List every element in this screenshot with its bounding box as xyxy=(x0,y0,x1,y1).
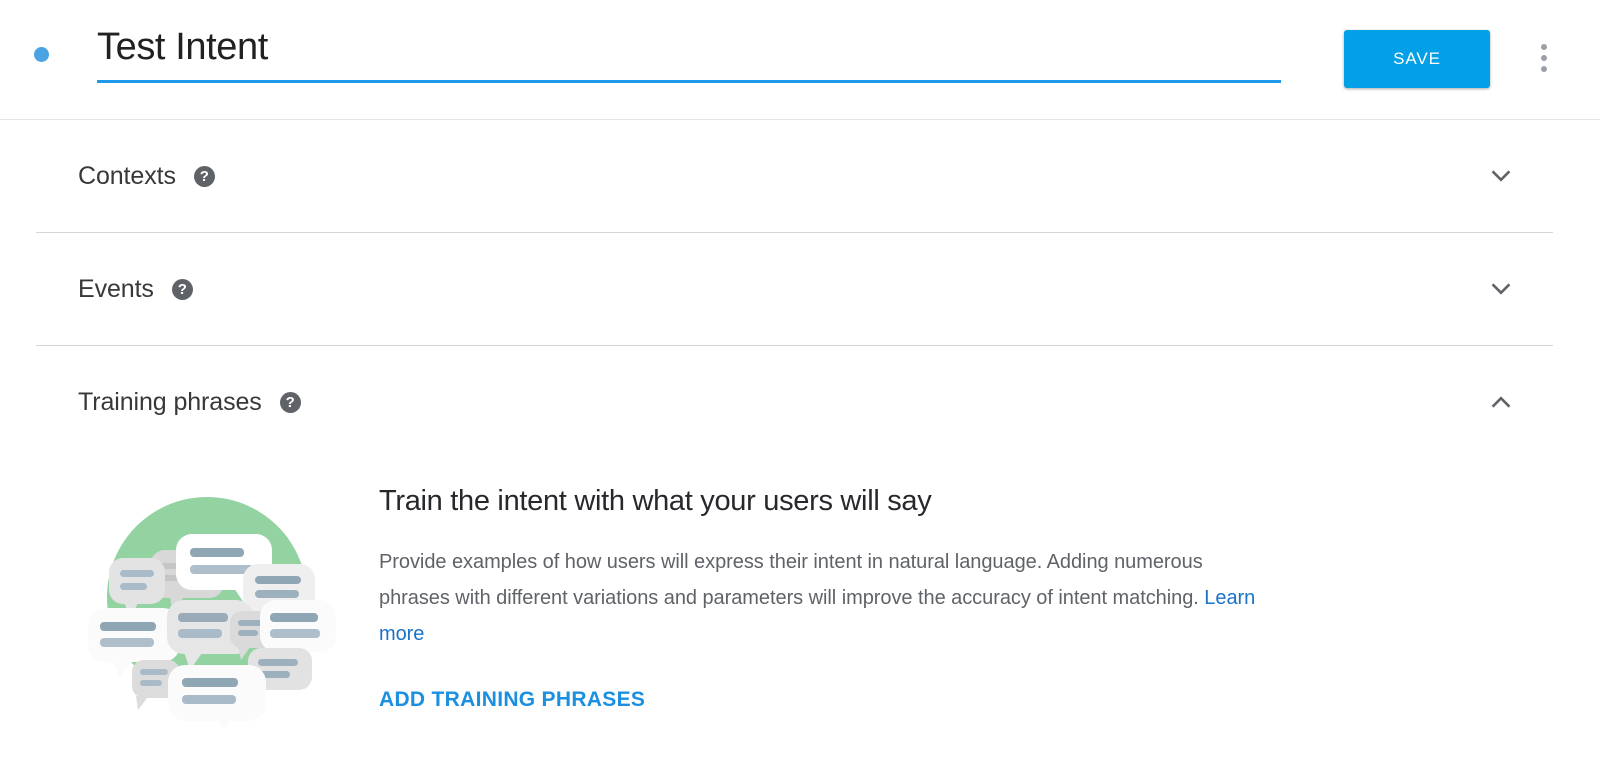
help-circle-icon[interactable]: ? xyxy=(172,279,193,300)
intent-name-field-wrap xyxy=(97,22,1281,83)
section-title-contexts: Contexts xyxy=(78,162,176,191)
help-circle-icon[interactable]: ? xyxy=(194,166,215,187)
section-title-training-phrases: Training phrases xyxy=(78,388,262,417)
section-contexts: Contexts ? xyxy=(0,120,1600,233)
speech-bubbles-illustration xyxy=(78,480,336,730)
chevron-up-icon[interactable] xyxy=(1486,387,1516,417)
more-dot xyxy=(1541,55,1547,61)
intent-editor-page: SAVE Contexts ? Events ? xyxy=(0,0,1600,771)
training-phrases-empty-state: Train the intent with what your users wi… xyxy=(0,458,1600,730)
add-training-phrases-button[interactable]: ADD TRAINING PHRASES xyxy=(379,688,645,712)
section-training-phrases: Training phrases ? xyxy=(0,346,1600,730)
training-phrases-copy: Train the intent with what your users wi… xyxy=(336,470,1269,730)
chevron-down-icon[interactable] xyxy=(1486,161,1516,191)
chevron-down-icon[interactable] xyxy=(1486,274,1516,304)
section-header-training-phrases[interactable]: Training phrases ? xyxy=(0,346,1600,458)
help-circle-icon[interactable]: ? xyxy=(280,392,301,413)
intent-name-input[interactable] xyxy=(97,22,1281,72)
intent-header: SAVE xyxy=(0,0,1600,120)
section-header-contexts[interactable]: Contexts ? xyxy=(0,120,1600,232)
section-events: Events ? xyxy=(0,233,1600,346)
section-title-events: Events xyxy=(78,275,154,304)
more-dot xyxy=(1541,66,1547,72)
training-phrases-description-text: Provide examples of how users will expre… xyxy=(379,551,1203,609)
intent-name-underline xyxy=(97,80,1281,83)
section-header-events[interactable]: Events ? xyxy=(0,233,1600,345)
save-button[interactable]: SAVE xyxy=(1344,30,1490,88)
more-vertical-icon[interactable] xyxy=(1528,36,1560,80)
intent-status-dot xyxy=(34,47,49,62)
more-dot xyxy=(1541,44,1547,50)
training-phrases-heading: Train the intent with what your users wi… xyxy=(379,484,1269,518)
training-phrases-description: Provide examples of how users will expre… xyxy=(379,544,1269,652)
